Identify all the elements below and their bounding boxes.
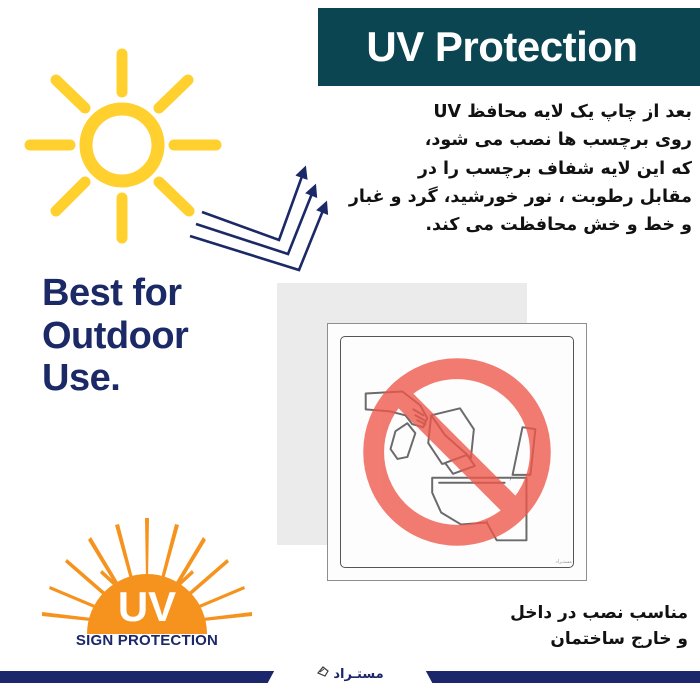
description-text: بعد از چاپ یک لایه محافظ UV روی برچسب ها…	[344, 98, 692, 240]
tagline-line-2: Outdoor	[42, 315, 188, 358]
footer-logo-icon	[316, 664, 330, 683]
logo-sun-dome	[87, 574, 207, 634]
sign-outer-frame: مستـراد	[327, 323, 587, 581]
header-banner: UV Protection	[318, 8, 700, 86]
footer-brand-notch: مستـراد	[265, 662, 435, 688]
description-line-1: بعد از چاپ یک لایه محافظ UV	[344, 98, 692, 126]
uv-sign-protection-logo: UV SIGN PROTECTION	[42, 512, 252, 662]
description-line-5: و خط و خش محافظت می کند.	[344, 211, 692, 239]
page-title: UV Protection	[366, 26, 637, 68]
description-line-4: مقابل رطوبت ، نور خورشید، گرد و غبار	[344, 183, 692, 211]
bottom-note-line-1: مناسب نصب در داخل	[388, 600, 688, 626]
tagline-line-1: Best for	[42, 272, 188, 315]
product-sign-preview: مستـراد	[277, 283, 547, 583]
bottom-note-line-2: و خارج ساختمان	[388, 626, 688, 652]
description-line-2: روی برچسب ها نصب می شود،	[344, 126, 692, 154]
tagline-line-3: Use.	[42, 357, 188, 400]
description-line-3: که این لایه شفاف برچسب را در	[344, 155, 692, 183]
footer-brand-text: مستـراد	[333, 667, 383, 682]
reflection-arrows-icon	[178, 152, 353, 287]
sign-watermark: مستـراد	[556, 559, 573, 565]
prohibition-symbol	[328, 324, 586, 580]
tagline-heading: Best for Outdoor Use.	[42, 272, 188, 400]
bottom-note-text: مناسب نصب در داخل و خارج ساختمان	[388, 600, 688, 653]
